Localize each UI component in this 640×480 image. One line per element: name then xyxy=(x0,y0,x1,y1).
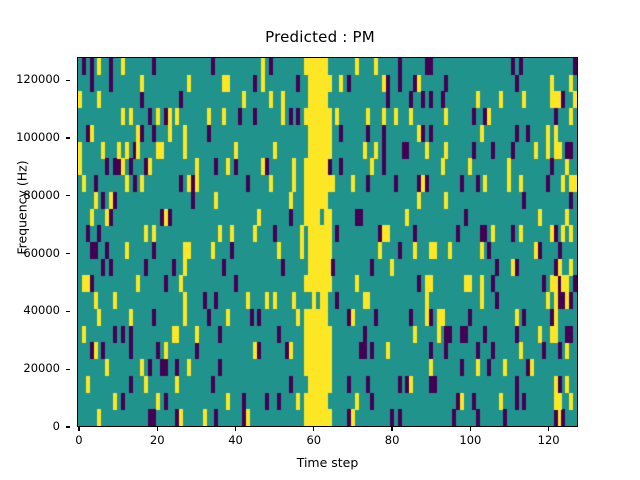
x-tick-label: 20 xyxy=(117,433,197,447)
x-tick-line xyxy=(313,427,314,431)
y-tick-label: 60000 xyxy=(23,246,60,260)
y-tick-line xyxy=(66,426,70,427)
x-tick-label: 100 xyxy=(430,433,510,447)
x-tick-label: 60 xyxy=(274,433,354,447)
matplotlib-figure: Predicted : PM Frequency (Hz) Time step … xyxy=(0,0,640,480)
y-tick-label: 0 xyxy=(53,419,60,433)
x-tick-line xyxy=(548,427,549,431)
y-tick-line xyxy=(66,80,70,81)
x-tick-label: 40 xyxy=(196,433,276,447)
y-tick-label: 100000 xyxy=(16,130,60,144)
chart-title: Predicted : PM xyxy=(0,28,640,46)
x-tick-line xyxy=(235,427,236,431)
y-tick-line xyxy=(66,311,70,312)
heatmap-image xyxy=(78,58,577,426)
y-tick-label: 80000 xyxy=(23,188,60,202)
x-tick-line xyxy=(78,427,79,431)
x-tick-line xyxy=(157,427,158,431)
x-axis-label: Time step xyxy=(77,455,578,470)
x-tick-label: 80 xyxy=(352,433,432,447)
x-tick-label: 0 xyxy=(39,433,119,447)
y-tick-line xyxy=(66,253,70,254)
y-tick-line xyxy=(66,369,70,370)
heatmap-plot-area xyxy=(77,57,578,427)
y-tick-line xyxy=(66,195,70,196)
y-tick-label: 120000 xyxy=(16,72,60,86)
y-tick-label: 20000 xyxy=(23,361,60,375)
x-tick-line xyxy=(470,427,471,431)
x-tick-label: 120 xyxy=(509,433,589,447)
y-tick-label: 40000 xyxy=(23,303,60,317)
y-tick-line xyxy=(66,137,70,138)
x-tick-line xyxy=(391,427,392,431)
